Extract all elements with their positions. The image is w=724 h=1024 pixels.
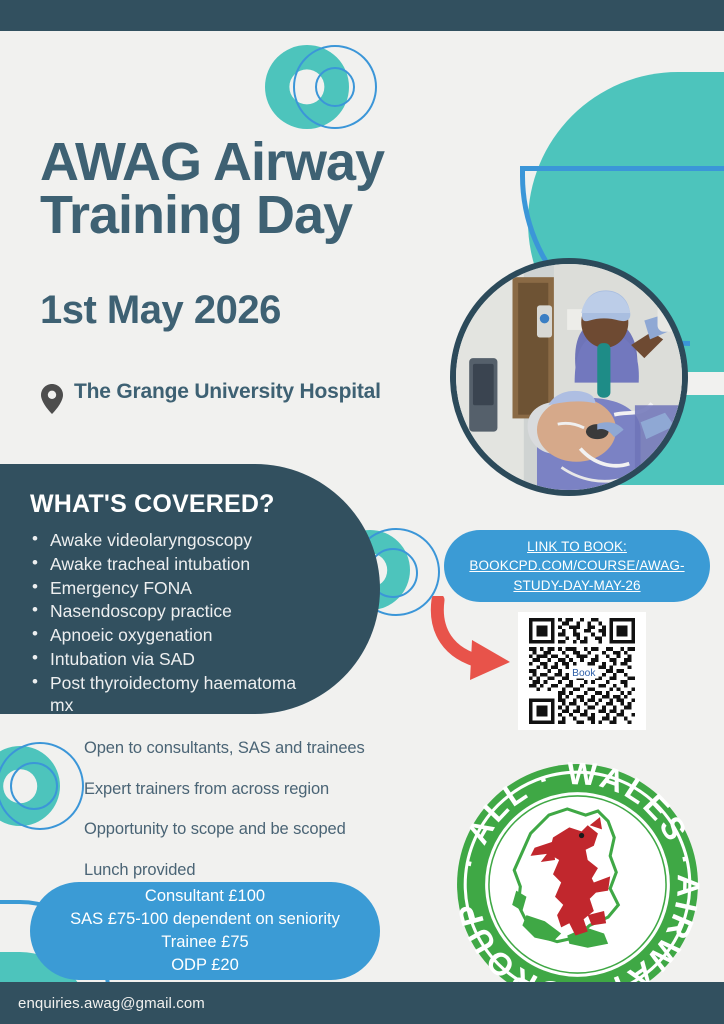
booking-link-button[interactable]: LINK TO BOOK: BOOKCPD.COM/COURSE/AWAG-ST… [444, 530, 710, 602]
venue-name: The Grange University Hospital [74, 380, 381, 404]
top-bar [0, 0, 724, 31]
title-line-1: AWAG Airway [40, 132, 384, 192]
footer-email[interactable]: enquiries.awag@gmail.com [18, 982, 205, 1024]
price-line: Trainee £75 [161, 931, 248, 954]
svg-text:Book: Book [572, 668, 596, 679]
list-item: Awake videolaryngoscopy [30, 529, 320, 552]
features-list: Open to consultants, SAS and trainees Ex… [84, 740, 454, 902]
feature-item: Opportunity to scope and be scoped [84, 821, 454, 838]
price-line: SAS £75-100 dependent on seniority [70, 908, 340, 931]
title-line-2: Training Day [40, 189, 520, 242]
pricing-panel: Consultant £100 SAS £75-100 dependent on… [30, 882, 380, 980]
page-title: AWAG Airway Training Day [40, 136, 520, 243]
feature-item: Lunch provided [84, 862, 454, 879]
list-item: Awake tracheal intubation [30, 553, 320, 576]
ring-outline-small [10, 762, 58, 810]
airway-training-photo [450, 258, 688, 496]
awag-rings-decoration [0, 742, 90, 838]
list-item: Emergency FONA [30, 577, 320, 600]
ring-outline-small [315, 67, 355, 107]
whats-covered-panel: WHAT'S COVERED? Awake videolaryngoscopy … [0, 464, 380, 714]
awag-rings-logo-icon [265, 42, 385, 132]
booking-link-label: LINK TO BOOK: BOOKCPD.COM/COURSE/AWAG-ST… [456, 537, 698, 596]
feature-item: Open to consultants, SAS and trainees [84, 740, 454, 757]
location-pin-icon [40, 384, 64, 419]
all-wales-airway-group-badge: · ALL · WALES · AIRWAY · GROUP · [455, 762, 700, 1007]
event-date: 1st May 2026 [40, 288, 281, 333]
price-line: Consultant £100 [145, 885, 265, 908]
list-item: Post thyroidectomy haematoma mx [30, 672, 320, 718]
price-line: ODP £20 [171, 954, 239, 977]
list-item: Apnoeic oxygenation [30, 624, 320, 647]
poster-canvas: AWAG Airway Training Day 1st May 2026 Th… [0, 0, 724, 1024]
qr-code-icon[interactable]: Book [518, 612, 646, 730]
list-item: Nasendoscopy practice [30, 600, 320, 623]
list-item: Intubation via SAD [30, 648, 320, 671]
whats-covered-heading: WHAT'S COVERED? [30, 490, 320, 519]
venue-block: The Grange University Hospital [40, 380, 420, 419]
whats-covered-list: Awake videolaryngoscopy Awake tracheal i… [30, 529, 320, 717]
feature-item: Expert trainers from across region [84, 781, 454, 798]
